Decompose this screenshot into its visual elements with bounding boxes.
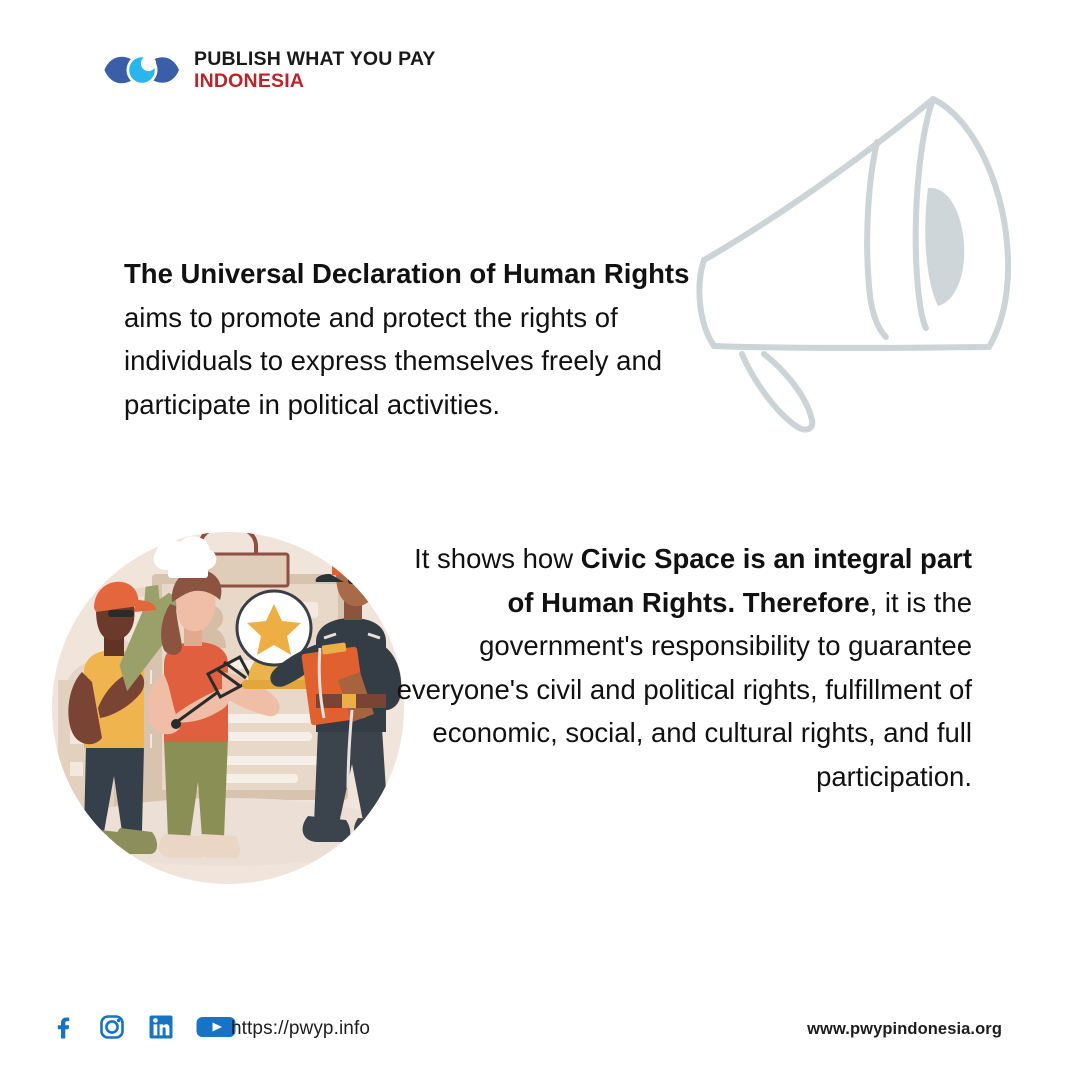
website-url-primary[interactable]: https://pwyp.info: [231, 1018, 370, 1040]
facebook-icon[interactable]: [48, 1012, 78, 1042]
brand-logo[interactable]: PUBLISH WHAT YOU PAY INDONESIA: [104, 48, 436, 93]
civic-participation-illustration: [52, 532, 404, 884]
brand-name-line1: PUBLISH WHAT YOU PAY: [194, 48, 436, 70]
social-media-card: PUBLISH WHAT YOU PAY INDONESIA The Unive…: [0, 0, 1080, 1080]
paragraph-bottom: It shows how Civic Space is an integral …: [382, 537, 972, 798]
paragraph-top-rest: aims to promote and protect the rights o…: [124, 302, 662, 420]
website-url-secondary[interactable]: www.pwypindonesia.org: [807, 1020, 1002, 1039]
paragraph-top: The Universal Declaration of Human Right…: [124, 252, 744, 426]
megaphone-illustration: [690, 82, 1060, 472]
instagram-icon[interactable]: [97, 1012, 127, 1042]
paragraph-bottom-intro: It shows how: [414, 543, 581, 574]
linkedin-icon[interactable]: [146, 1012, 176, 1042]
paragraph-top-lead: The Universal Declaration of Human Right…: [124, 258, 689, 289]
brand-name-line2: INDONESIA: [194, 70, 436, 92]
eye-logo-icon: [104, 49, 180, 91]
footer: https://pwyp.info www.pwypindonesia.org: [0, 994, 1080, 1080]
social-links: [48, 1012, 237, 1042]
brand-wordmark: PUBLISH WHAT YOU PAY INDONESIA: [194, 48, 436, 93]
